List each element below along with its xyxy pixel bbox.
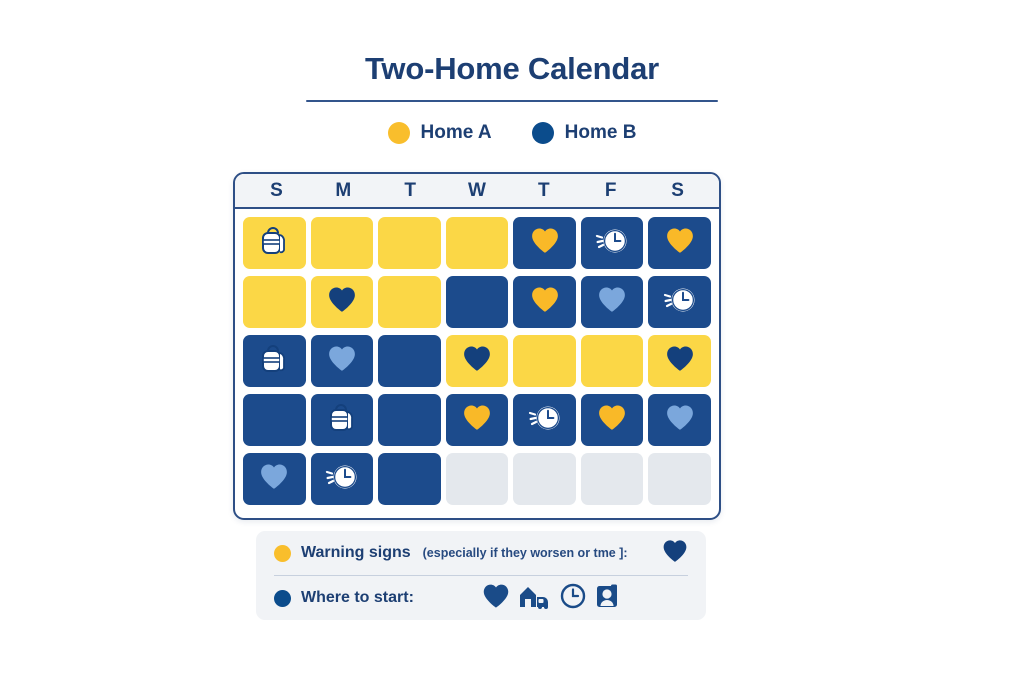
- heart-icon: [662, 539, 688, 568]
- calendar-cell[interactable]: [311, 276, 374, 328]
- calendar-cell[interactable]: [311, 394, 374, 446]
- calendar-cell[interactable]: [581, 453, 644, 505]
- calendar-cell[interactable]: [446, 276, 509, 328]
- clock-icon: [663, 285, 697, 320]
- calendar-cell[interactable]: [311, 217, 374, 269]
- calendar-cell[interactable]: [648, 453, 711, 505]
- footer-warning-label: Warning signs: [301, 544, 411, 562]
- footer-start-icons: [482, 583, 620, 614]
- backpack-icon: [257, 224, 291, 263]
- title-underline-divider: [306, 100, 718, 102]
- heart-icon: [530, 227, 560, 259]
- calendar-cell[interactable]: [513, 453, 576, 505]
- footer-row-warning-signs: Warning signs (especially if they worsen…: [274, 531, 688, 576]
- calendar-day-header-row: S M T W T F S: [235, 174, 719, 209]
- heart-icon: [482, 583, 510, 614]
- calendar-cell[interactable]: [513, 394, 576, 446]
- footer-legend-box: Warning signs (especially if they worsen…: [256, 531, 706, 620]
- calendar-cell[interactable]: [243, 276, 306, 328]
- heart-icon: [462, 404, 492, 436]
- calendar-cell[interactable]: [378, 276, 441, 328]
- calendar-cell[interactable]: [581, 217, 644, 269]
- calendar-cell[interactable]: [513, 217, 576, 269]
- calendar-cell[interactable]: [243, 394, 306, 446]
- clipboard-icon: [594, 583, 620, 614]
- calendar-cell[interactable]: [378, 217, 441, 269]
- clock-icon: [595, 226, 629, 261]
- yellow-dot-icon: [388, 122, 410, 144]
- heart-icon: [597, 286, 627, 318]
- heart-icon: [327, 286, 357, 318]
- day-header-sat: S: [644, 180, 711, 202]
- calendar-cell[interactable]: [513, 276, 576, 328]
- heart-icon: [665, 345, 695, 377]
- day-header-mon: M: [310, 180, 377, 202]
- calendar-cell[interactable]: [648, 335, 711, 387]
- footer-row-where-to-start: Where to start:: [274, 576, 688, 620]
- day-header-thu: T: [510, 180, 577, 202]
- backpack-icon: [257, 342, 291, 381]
- calendar-cell[interactable]: [446, 335, 509, 387]
- footer-warning-icons: [662, 539, 688, 568]
- legend-item-home-b: Home B: [532, 122, 637, 144]
- house-car-icon: [518, 583, 552, 614]
- heart-icon: [327, 345, 357, 377]
- calendar-card: S M T W T F S: [233, 172, 721, 520]
- day-header-wed: W: [444, 180, 511, 202]
- calendar-cell[interactable]: [581, 276, 644, 328]
- footer-start-label: Where to start:: [301, 589, 414, 607]
- yellow-bullet-icon: [274, 545, 291, 562]
- page-title: Two-Home Calendar: [0, 52, 1024, 86]
- calendar-cell[interactable]: [446, 453, 509, 505]
- day-header-tue: T: [377, 180, 444, 202]
- heart-icon: [665, 404, 695, 436]
- header: Two-Home Calendar: [0, 52, 1024, 102]
- calendar-cell[interactable]: [648, 276, 711, 328]
- calendar-cell[interactable]: [648, 217, 711, 269]
- legend-label-home-b: Home B: [565, 122, 637, 144]
- legend-item-home-a: Home A: [388, 122, 492, 144]
- calendar-grid: [235, 209, 719, 515]
- heart-icon: [462, 345, 492, 377]
- calendar-cell[interactable]: [311, 453, 374, 505]
- calendar-cell[interactable]: [311, 335, 374, 387]
- calendar-cell[interactable]: [243, 217, 306, 269]
- backpack-icon: [325, 401, 359, 440]
- clock-icon: [560, 583, 586, 614]
- footer-warning-note: (especially if they worsen or tme ]:: [423, 546, 628, 560]
- blue-bullet-icon: [274, 590, 291, 607]
- day-header-fri: F: [577, 180, 644, 202]
- heart-icon: [665, 227, 695, 259]
- heart-icon: [597, 404, 627, 436]
- calendar-cell[interactable]: [378, 394, 441, 446]
- legend-label-home-a: Home A: [421, 122, 492, 144]
- clock-icon: [325, 462, 359, 497]
- calendar-cell[interactable]: [446, 217, 509, 269]
- clock-icon: [528, 403, 562, 438]
- calendar-cell[interactable]: [513, 335, 576, 387]
- day-header-sun: S: [243, 180, 310, 202]
- heart-icon: [259, 463, 289, 495]
- calendar-cell[interactable]: [243, 453, 306, 505]
- calendar-cell[interactable]: [378, 453, 441, 505]
- calendar-cell[interactable]: [581, 394, 644, 446]
- calendar-cell[interactable]: [243, 335, 306, 387]
- calendar-cell[interactable]: [581, 335, 644, 387]
- calendar-cell[interactable]: [648, 394, 711, 446]
- calendar-cell[interactable]: [378, 335, 441, 387]
- heart-icon: [530, 286, 560, 318]
- calendar-cell[interactable]: [446, 394, 509, 446]
- legend: Home A Home B: [0, 122, 1024, 144]
- blue-dot-icon: [532, 122, 554, 144]
